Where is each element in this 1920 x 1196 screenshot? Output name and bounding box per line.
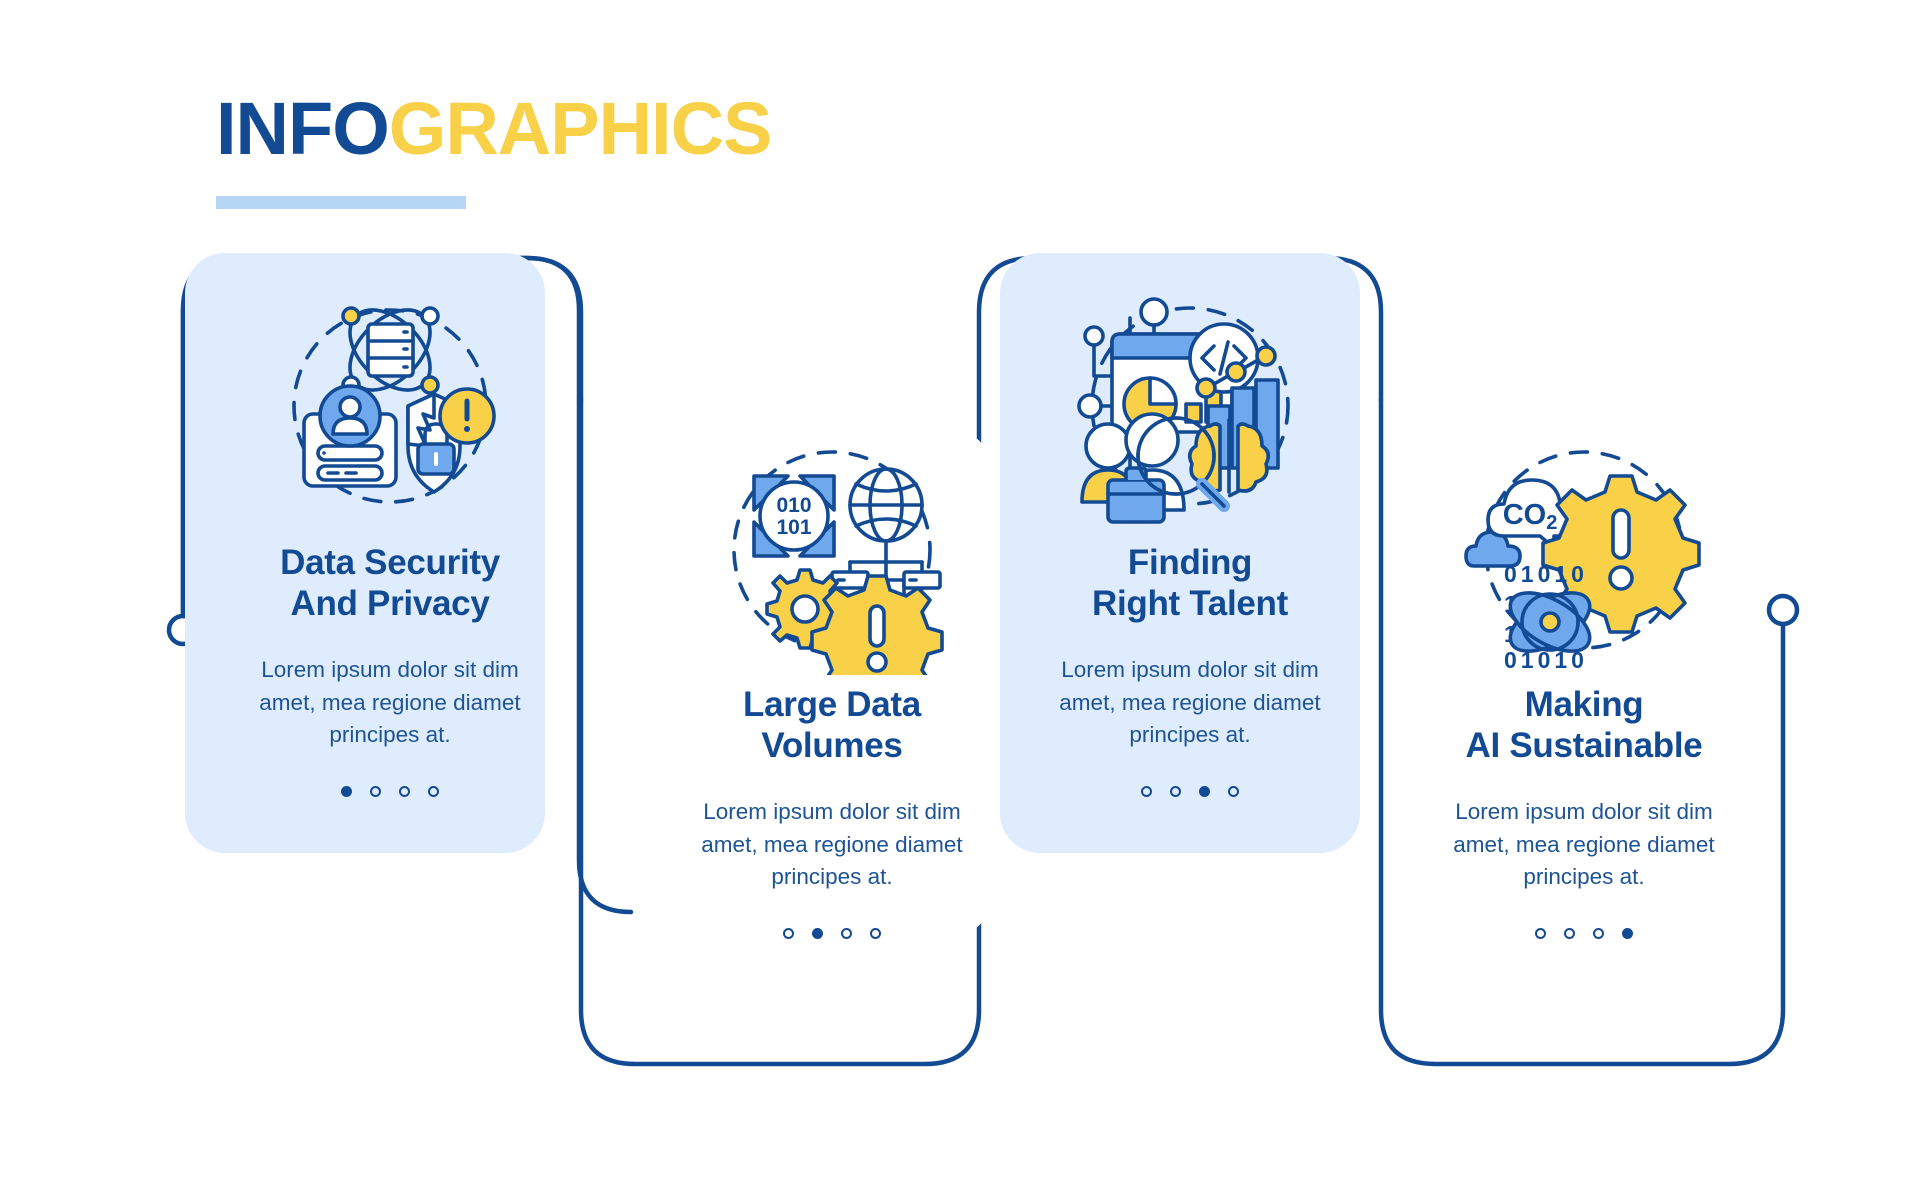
step-dots[interactable] [783, 928, 881, 939]
card-title: Making AI Sustainable [1466, 685, 1703, 766]
svg-text:01010: 01010 [1504, 561, 1588, 587]
card-title: Large Data Volumes [743, 685, 921, 766]
step-dot-2[interactable] [370, 786, 381, 797]
step-dot-3[interactable] [399, 786, 410, 797]
step-dot-1[interactable] [1535, 928, 1546, 939]
card-making-ai-sustainable[interactable]: CO2 01010 1 0 1 1 0 1 01010 [1424, 430, 1744, 936]
data-security-privacy-icon [268, 288, 513, 533]
step-dot-1[interactable] [1141, 786, 1152, 797]
card-body: Lorem ipsum dolor sit dim amet, mea regi… [1045, 654, 1335, 752]
header: INFOGRAPHICS [216, 92, 976, 222]
step-dot-3[interactable] [1593, 928, 1604, 939]
card-finding-right-talent[interactable]: Finding Right Talent Lorem ipsum dolor s… [1030, 288, 1350, 794]
step-dot-3[interactable] [841, 928, 852, 939]
title-underline [216, 196, 466, 209]
card-data-security-and-privacy[interactable]: Data Security And Privacy Lorem ipsum do… [230, 288, 550, 794]
card-title: Finding Right Talent [1092, 543, 1288, 624]
step-dot-4[interactable] [870, 928, 881, 939]
step-dot-2[interactable] [812, 928, 823, 939]
step-dot-2[interactable] [1170, 786, 1181, 797]
page-title-primary: INFO [216, 87, 389, 170]
card-body: Lorem ipsum dolor sit dim amet, mea regi… [687, 796, 977, 894]
card-large-data-volumes[interactable]: 010 101 [672, 430, 992, 936]
step-dots[interactable] [1141, 786, 1239, 797]
finding-right-talent-icon [1068, 288, 1313, 533]
card-body: Lorem ipsum dolor sit dim amet, mea regi… [245, 654, 535, 752]
step-dot-2[interactable] [1564, 928, 1575, 939]
step-dot-4[interactable] [1228, 786, 1239, 797]
page-title: INFOGRAPHICS [216, 92, 976, 166]
page-title-accent: GRAPHICS [389, 87, 772, 170]
svg-text:010: 010 [776, 494, 811, 517]
step-dot-3[interactable] [1199, 786, 1210, 797]
step-dots[interactable] [341, 786, 439, 797]
step-dot-1[interactable] [341, 786, 352, 797]
svg-text:101: 101 [776, 516, 811, 539]
step-dot-4[interactable] [1622, 928, 1633, 939]
large-data-volumes-icon: 010 101 [710, 430, 955, 675]
card-2-outline [579, 258, 631, 310]
card-body: Lorem ipsum dolor sit dim amet, mea regi… [1439, 796, 1729, 894]
step-dots[interactable] [1535, 928, 1633, 939]
infographic-canvas: INFOGRAPHICS [0, 0, 1920, 1196]
making-ai-sustainable-icon: CO2 01010 1 0 1 1 0 1 01010 [1462, 430, 1707, 675]
card-title: Data Security And Privacy [280, 543, 500, 624]
end-node-icon [1769, 596, 1797, 624]
step-dot-1[interactable] [783, 928, 794, 939]
step-dot-4[interactable] [428, 786, 439, 797]
